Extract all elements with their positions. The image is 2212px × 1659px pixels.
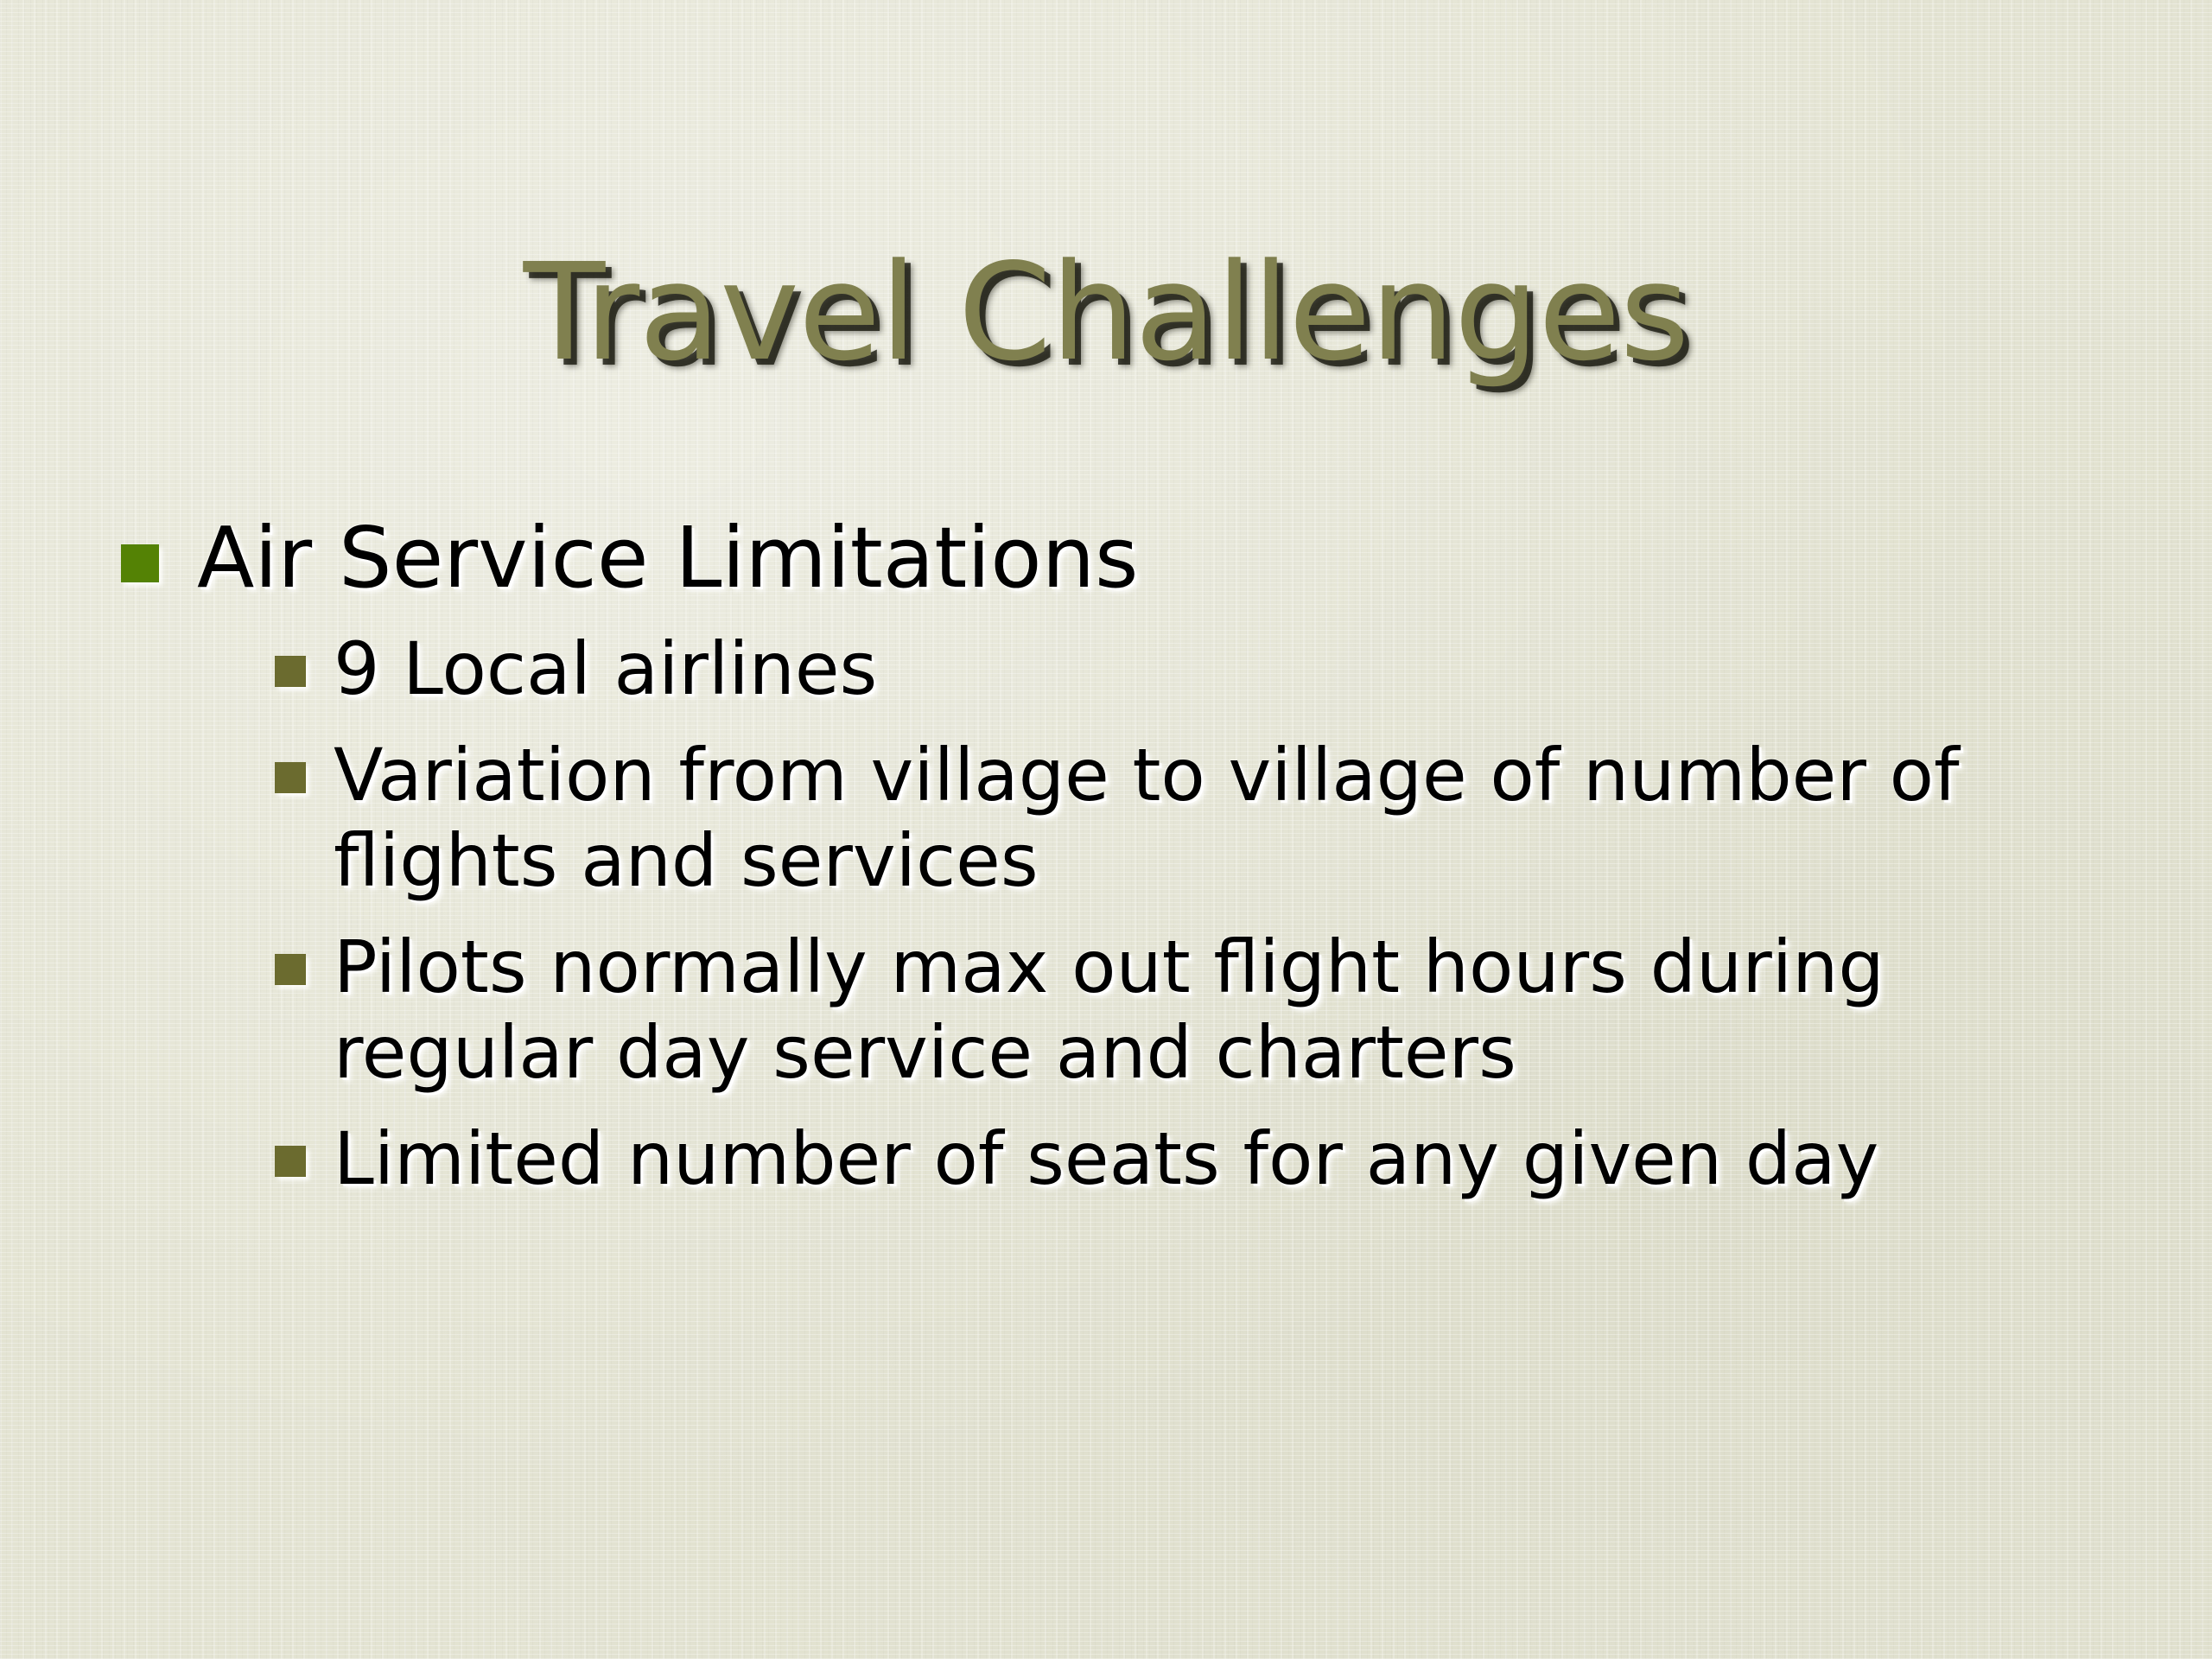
square-bullet-icon [121, 544, 159, 582]
bullet-level2-label: Variation from village to village of num… [334, 733, 2062, 904]
page-title: Travel Challenges [524, 245, 1689, 379]
slide-body-content: Air Service Limitations 9 Local airlines… [121, 510, 2134, 1223]
bullet-level2-list: 9 Local airlines Variation from village … [275, 626, 2134, 1203]
bullet-level2-item: Limited number of seats for any given da… [275, 1116, 2134, 1202]
bullet-level2-label: 9 Local airlines [334, 626, 2062, 712]
square-bullet-icon [275, 1146, 306, 1177]
bullet-level1-item: Air Service Limitations [121, 510, 2134, 607]
bullet-level2-label: Limited number of seats for any given da… [334, 1116, 2062, 1202]
square-bullet-icon [275, 954, 306, 985]
square-bullet-icon [275, 762, 306, 793]
bullet-level1-label: Air Service Limitations [197, 510, 2134, 607]
slide-title-container: Travel Challenges [0, 156, 2212, 469]
bullet-level2-item: Pilots normally max out flight hours dur… [275, 925, 2134, 1096]
bullet-level2-item: 9 Local airlines [275, 626, 2134, 712]
bullet-level2-label: Pilots normally max out flight hours dur… [334, 925, 2062, 1096]
square-bullet-icon [275, 656, 306, 687]
presentation-slide: Travel Challenges Air Service Limitation… [0, 0, 2212, 1659]
bullet-level2-item: Variation from village to village of num… [275, 733, 2134, 904]
